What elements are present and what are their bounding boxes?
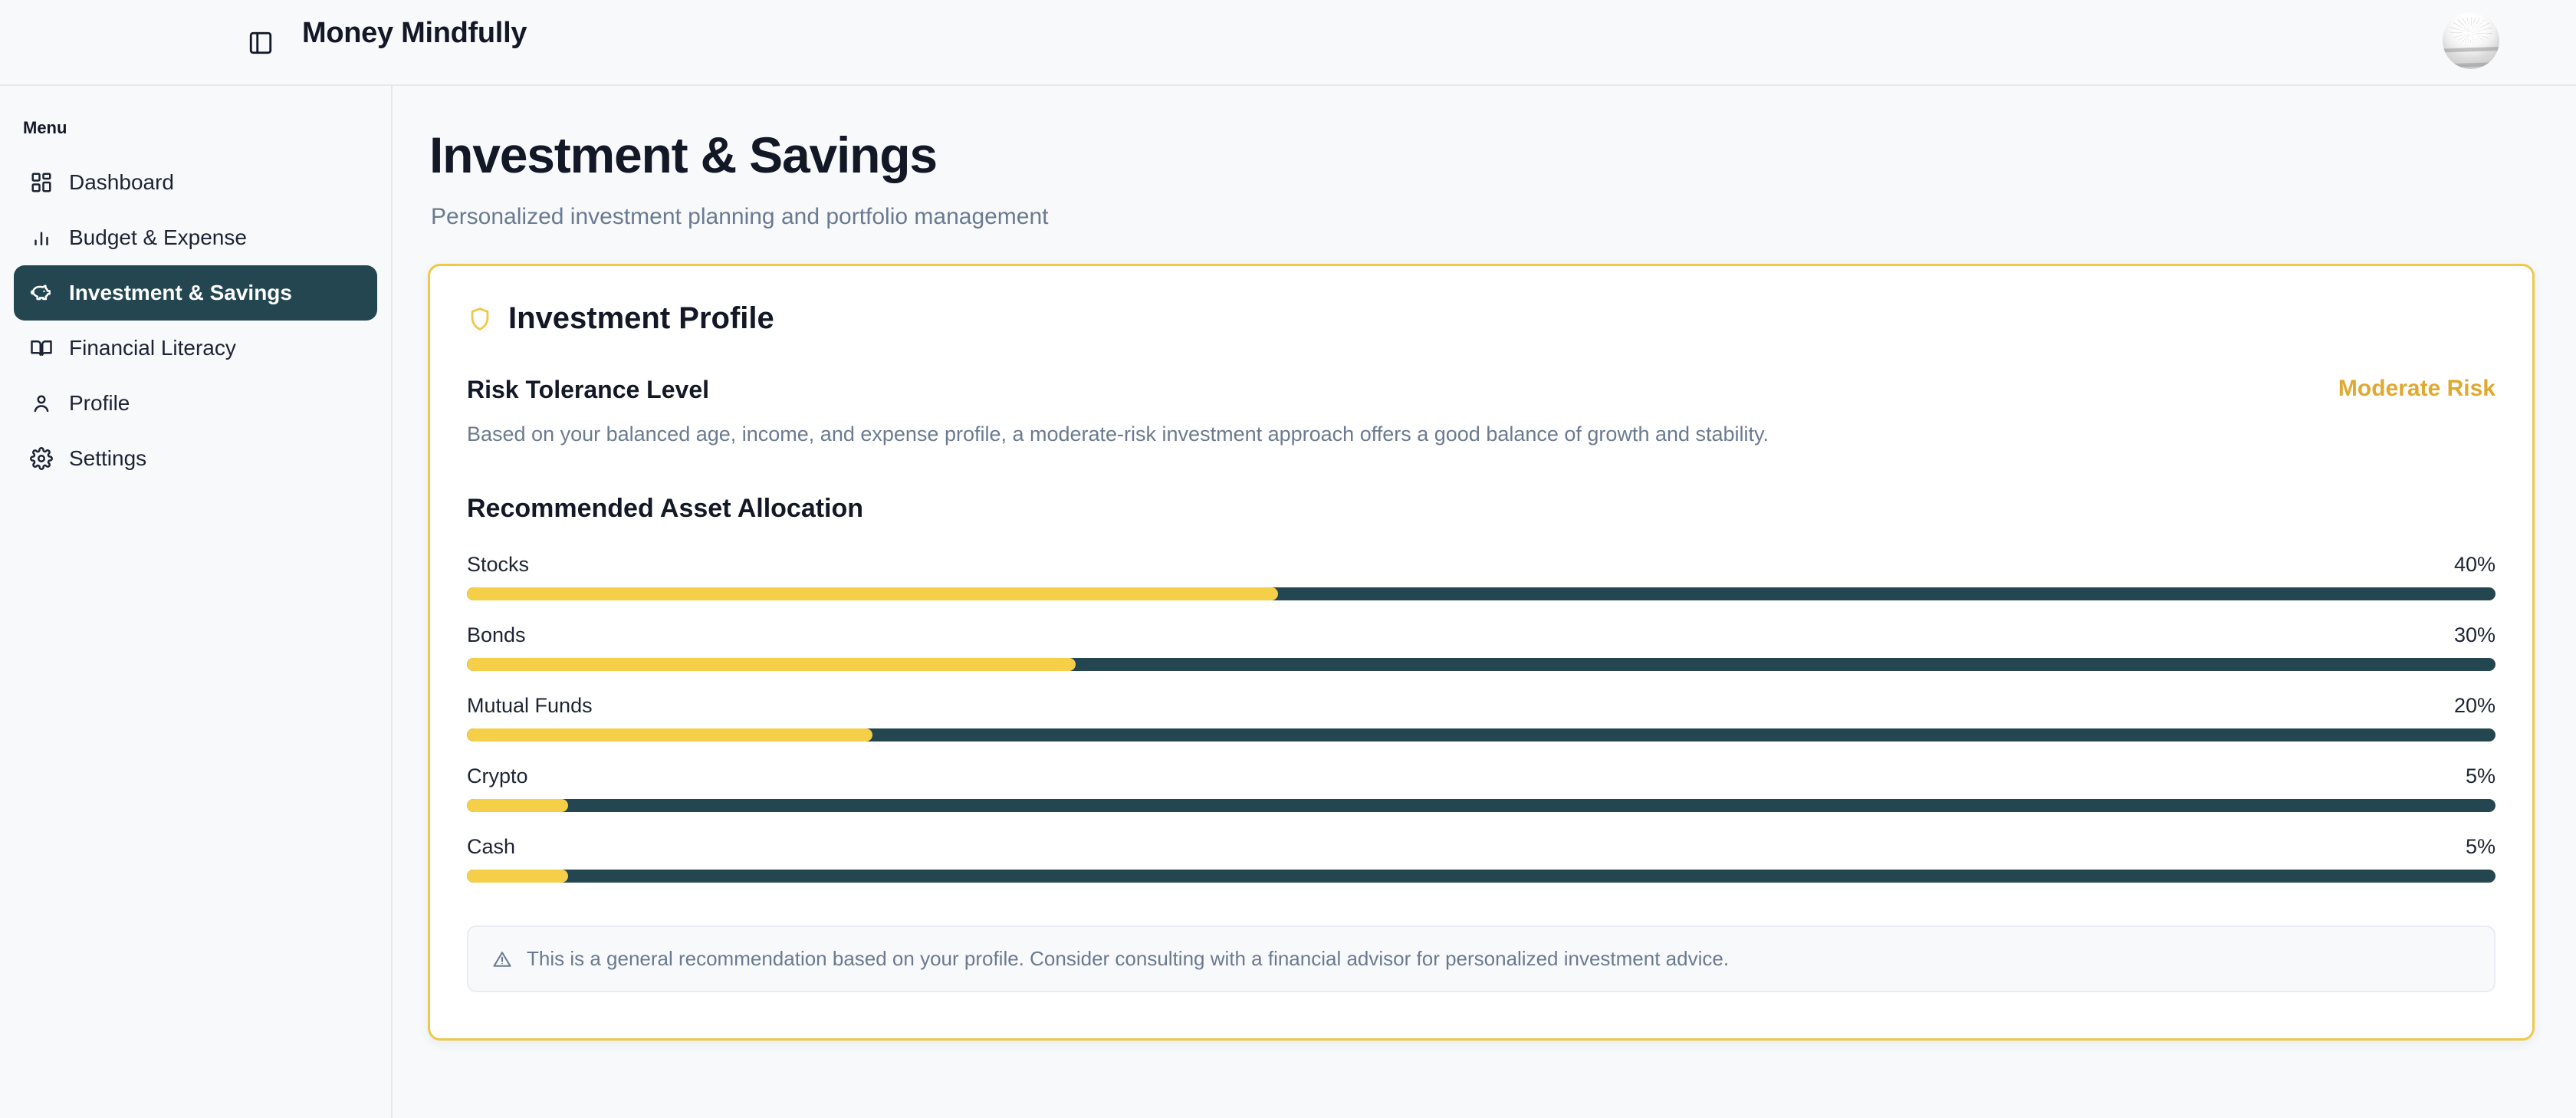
avatar[interactable] (2443, 12, 2499, 69)
allocation-bar-track (467, 870, 2495, 883)
sidebar-item-profile[interactable]: Profile (14, 376, 377, 431)
user-icon (28, 390, 55, 417)
allocation-label: Stocks (467, 553, 529, 577)
app-title: Money Mindfully (302, 17, 527, 50)
risk-tolerance-label: Risk Tolerance Level (467, 376, 709, 404)
allocation-label: Crypto (467, 765, 528, 788)
grid-icon (28, 169, 55, 196)
risk-tolerance-row: Risk Tolerance Level Moderate Risk (467, 376, 2495, 404)
piggy-bank-icon (28, 279, 55, 307)
card-title: Investment Profile (508, 301, 774, 336)
allocation-bar-track (467, 728, 2495, 741)
allocation-bar-fill (467, 799, 568, 812)
sidebar: Menu Dashboard Budget & Expense (0, 86, 393, 1118)
allocation-value: 5% (2466, 765, 2495, 788)
allocation-title: Recommended Asset Allocation (467, 494, 2495, 524)
sidebar-section-label: Menu (23, 118, 391, 138)
sidebar-item-dashboard[interactable]: Dashboard (14, 155, 377, 210)
sidebar-item-label: Investment & Savings (69, 281, 292, 305)
sidebar-item-investment-savings[interactable]: Investment & Savings (14, 265, 377, 321)
allocation-bar-fill (467, 728, 872, 741)
allocation-row: Mutual Funds 20% (467, 694, 2495, 741)
allocation-value: 5% (2466, 835, 2495, 859)
sidebar-item-label: Financial Literacy (69, 336, 236, 360)
sidebar-item-budget-expense[interactable]: Budget & Expense (14, 210, 377, 265)
investment-profile-card: Investment Profile Risk Tolerance Level … (428, 264, 2535, 1041)
allocation-bar-track (467, 658, 2495, 671)
page-subtitle: Personalized investment planning and por… (431, 204, 2521, 230)
card-header: Investment Profile (467, 301, 2495, 336)
allocation-label: Mutual Funds (467, 694, 593, 718)
allocation-label: Cash (467, 835, 515, 859)
allocation-bar-fill (467, 587, 1278, 600)
sidebar-item-label: Profile (69, 391, 130, 416)
allocation-row: Cash 5% (467, 835, 2495, 883)
sidebar-item-label: Settings (69, 446, 146, 471)
allocation-value: 30% (2454, 623, 2495, 647)
bar-chart-icon (28, 224, 55, 252)
book-open-icon (28, 334, 55, 362)
allocation-row: Bonds 30% (467, 623, 2495, 671)
warning-triangle-icon (491, 949, 513, 970)
risk-description: Based on your balanced age, income, and … (467, 423, 2495, 446)
allocation-bar-fill (467, 870, 568, 883)
sidebar-item-settings[interactable]: Settings (14, 431, 377, 486)
sidebar-toggle-button[interactable] (244, 26, 278, 60)
status-badge: Moderate Risk (2338, 376, 2495, 402)
disclaimer-text: This is a general recommendation based o… (527, 947, 1729, 971)
allocation-list: Stocks 40% Bonds 30% Mutual Funds (467, 553, 2495, 883)
allocation-row: Crypto 5% (467, 765, 2495, 812)
allocation-row: Stocks 40% (467, 553, 2495, 600)
shield-icon (467, 306, 493, 332)
allocation-bar-track (467, 587, 2495, 600)
allocation-label: Bonds (467, 623, 526, 647)
sidebar-item-label: Budget & Expense (69, 225, 247, 250)
main-content: Investment & Savings Personalized invest… (393, 86, 2576, 1118)
allocation-bar-fill (467, 658, 1076, 671)
gear-icon (28, 445, 55, 472)
top-bar: Money Mindfully (0, 0, 2576, 86)
disclaimer-note: This is a general recommendation based o… (467, 926, 2495, 992)
sidebar-item-financial-literacy[interactable]: Financial Literacy (14, 321, 377, 376)
sidebar-toggle-icon (248, 30, 274, 56)
allocation-value: 20% (2454, 694, 2495, 718)
sidebar-item-label: Dashboard (69, 170, 174, 195)
allocation-value: 40% (2454, 553, 2495, 577)
page-title: Investment & Savings (429, 126, 2521, 184)
allocation-bar-track (467, 799, 2495, 812)
